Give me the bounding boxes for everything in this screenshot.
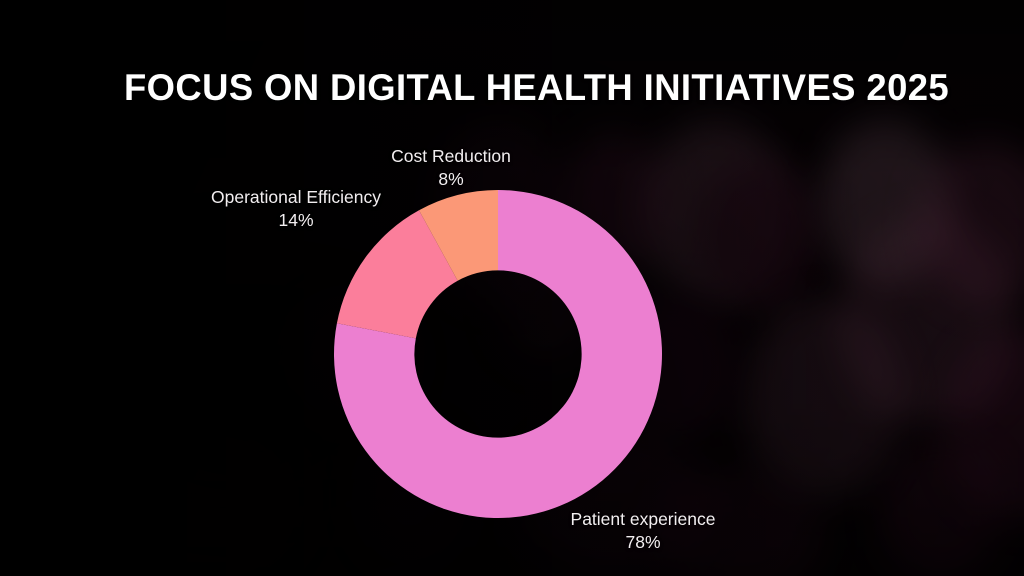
- slice-label-patient-experience: Patient experience 78%: [523, 508, 763, 554]
- slice-label-patient-experience-value: 78%: [523, 531, 763, 554]
- slice-label-operational-efficiency-name: Operational Efficiency: [211, 187, 381, 207]
- presentation-slide: FOCUS ON DIGITAL HEALTH INITIATIVES 2025…: [0, 0, 1024, 576]
- slice-label-patient-experience-name: Patient experience: [571, 509, 716, 529]
- donut-chart-svg: [0, 0, 1024, 576]
- slice-label-cost-reduction: Cost Reduction 8%: [331, 145, 571, 191]
- donut-slice-group: [334, 190, 662, 518]
- slice-label-operational-efficiency: Operational Efficiency 14%: [176, 186, 416, 232]
- slice-label-operational-efficiency-value: 14%: [176, 209, 416, 232]
- slice-label-cost-reduction-name: Cost Reduction: [391, 146, 511, 166]
- donut-chart: [0, 0, 1024, 576]
